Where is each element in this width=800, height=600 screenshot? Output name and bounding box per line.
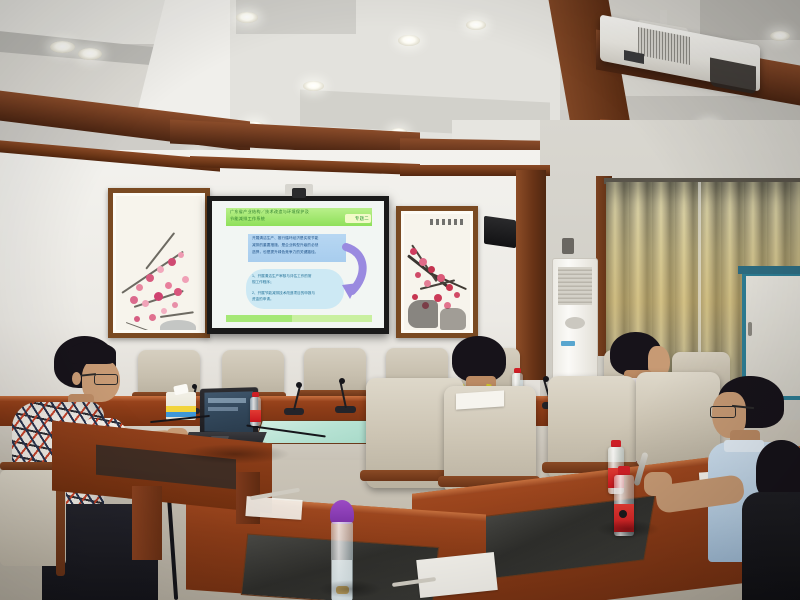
laptop-screen-content: [208, 407, 238, 411]
slide-footer-band: [226, 315, 292, 322]
painting-ink-wash: [440, 308, 466, 330]
ceiling-downlight: [466, 20, 486, 30]
ceiling-downlight: [303, 81, 324, 91]
gooseneck-microphone: [330, 378, 360, 414]
water-bottle: [250, 392, 261, 426]
gooseneck-microphone: [278, 382, 308, 416]
document-sheet: [456, 390, 504, 409]
slide-header-badge-label: 专题二: [355, 215, 369, 222]
slide-header-line1: 广东省产业结构／技术改造与环境保护及: [230, 209, 348, 215]
shirt-collar: [724, 440, 764, 452]
ceiling-downlight: [770, 31, 790, 41]
wall-thermostat: [562, 238, 574, 254]
notepad: [416, 552, 498, 598]
wall-speaker: [484, 216, 516, 248]
plum-blossom-painting-right: [396, 206, 478, 338]
slide-item1-line2: 规工作程序；: [252, 280, 342, 285]
painting-rock-left: [160, 320, 196, 330]
painting-canvas-left: [116, 196, 202, 330]
person-attendee-back-head: [756, 440, 800, 500]
slide-item1-line1: 1、开展清洁生产审核与评估工作的常: [252, 274, 342, 279]
conference-room-photo: 广东省产业结构／技术改造与环境保护及 节能减排工作系统 专题二 开展清洁生产、推…: [0, 0, 800, 600]
floor-standing-air-conditioner: [552, 258, 598, 390]
projection-screen: 广东省产业结构／技术改造与环境保护及 节能减排工作系统 专题二 开展清洁生产、推…: [207, 196, 389, 334]
person-shoulder: [742, 492, 800, 600]
cabinet-top-trim: [738, 266, 800, 274]
painting-canvas-right: [404, 214, 470, 330]
slide-blue-line3: 选择，也是提升绿色竞争力的关键路径。: [252, 250, 344, 255]
ceiling-downlight: [236, 12, 258, 23]
slide-header-line2: 节能减排工作系统: [230, 216, 330, 222]
table-glass-insert: [254, 420, 384, 444]
plum-blossom-painting-left: [108, 188, 210, 338]
ac-logo: [561, 341, 575, 346]
slide-item2-line2: 资金的申请。: [252, 297, 342, 302]
slide-blue-line2: 减排的重要措施，是企业转型升级的必然: [252, 243, 344, 248]
ac-vent-grille: [558, 267, 592, 305]
cabinet-handle: [748, 322, 752, 336]
painting-inscription: [430, 219, 466, 225]
eyeglasses-icon[interactable]: [710, 406, 736, 418]
ceiling-downlight: [50, 41, 75, 53]
curved-arrow-icon: [340, 241, 374, 305]
ceiling-projector: [600, 10, 770, 90]
screen-camera-icon: [292, 188, 306, 198]
ceiling-downlight: [78, 48, 102, 60]
slide-item2-line1: 2、开展节能减排技术改造项目的申报与: [252, 291, 342, 296]
slide-footer-band: [292, 315, 372, 322]
laptop-screen-content: [208, 398, 246, 403]
bottle-label-mark: [619, 510, 627, 518]
projection-screen-surface: 广东省产业结构／技术改造与环境保护及 节能减排工作系统 专题二 开展清洁生产、推…: [212, 201, 384, 328]
bottle-cap: [330, 500, 354, 524]
eyeglasses-icon[interactable]: [94, 374, 118, 385]
painting-ink-wash: [408, 300, 438, 328]
person-hair-front: [68, 342, 116, 364]
person-ear: [72, 372, 81, 385]
table-leg: [132, 486, 162, 560]
ceiling-downlight: [398, 35, 420, 46]
ac-display-panel: [565, 317, 585, 329]
person-hand: [644, 472, 672, 496]
slide-blue-line1: 开展清洁生产、推行循环经济是实现节能: [252, 236, 344, 241]
